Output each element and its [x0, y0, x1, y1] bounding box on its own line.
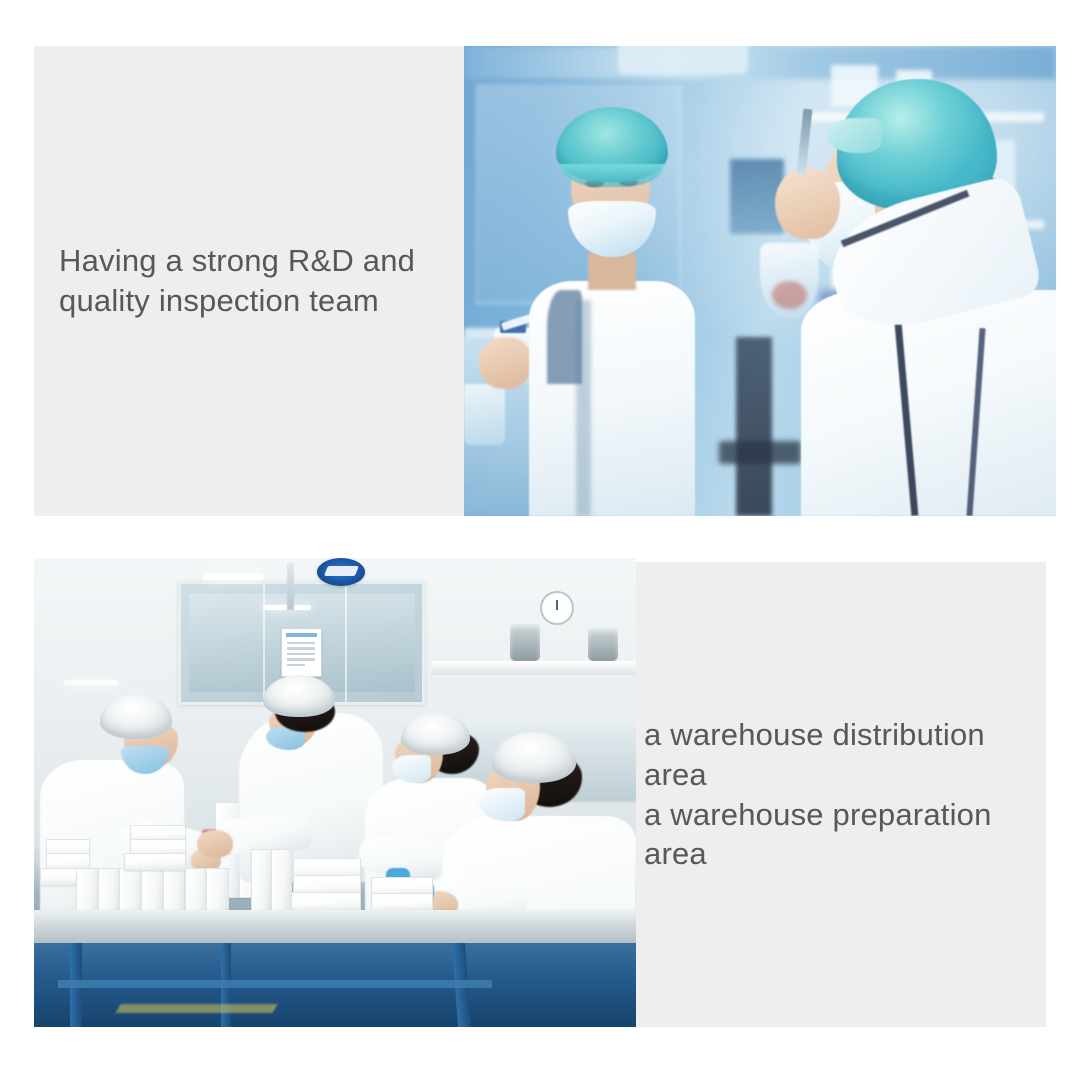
cleanroom-background	[34, 558, 636, 1027]
worker-2-hairnet	[263, 675, 335, 717]
technician-a-inner-garment	[547, 290, 583, 384]
notice-line	[287, 642, 316, 644]
notice-header-bar	[286, 633, 317, 637]
table-rail	[58, 980, 491, 988]
lab-stand-base	[719, 441, 802, 465]
warehouse-caption-panel: a warehouse distribution area a warehous…	[636, 562, 1046, 1027]
warehouse-photo	[34, 558, 636, 1027]
ceiling-duct	[287, 563, 294, 610]
lab-background	[464, 46, 1056, 516]
technician-a-neck	[588, 253, 635, 291]
lab-fume-hood	[618, 46, 748, 74]
carton	[251, 849, 272, 912]
notice-line	[287, 664, 306, 666]
stainless-pot	[588, 628, 618, 661]
ceiling-light	[64, 680, 118, 685]
lab-stand	[736, 337, 772, 516]
poster-canvas: Having a strong R&D and quality inspecti…	[0, 0, 1080, 1080]
rd-quality-caption-panel: Having a strong R&D and quality inspecti…	[34, 46, 466, 516]
technician-b-lab-coat	[801, 290, 1056, 516]
window-mullion	[345, 584, 347, 701]
cleanroom-counter	[431, 661, 636, 675]
stainless-pot	[510, 624, 540, 662]
rd-quality-caption: Having a strong R&D and quality inspecti…	[59, 241, 415, 320]
wall-sign-icon	[317, 558, 365, 586]
notice-line	[287, 658, 316, 660]
technician-b-hand	[775, 168, 840, 239]
warehouse-caption: a warehouse distribution area a warehous…	[644, 715, 1046, 874]
wall-notice-board	[281, 628, 322, 677]
notice-line	[287, 647, 316, 649]
floor-marking	[116, 1004, 278, 1013]
rd-quality-photo	[464, 46, 1056, 516]
carton	[124, 853, 186, 871]
ceiling-light	[203, 574, 263, 580]
carton	[271, 849, 292, 912]
notice-line	[287, 653, 316, 655]
technician-left-hand	[479, 337, 532, 389]
lab-ceiling	[464, 46, 1056, 79]
worker-2-hand	[197, 830, 233, 858]
glass-beaker	[464, 384, 505, 445]
worker-4-face-mask	[479, 788, 524, 821]
sample-tube	[797, 109, 813, 175]
wall-clock-icon	[540, 591, 574, 625]
window-mullion	[263, 584, 265, 701]
